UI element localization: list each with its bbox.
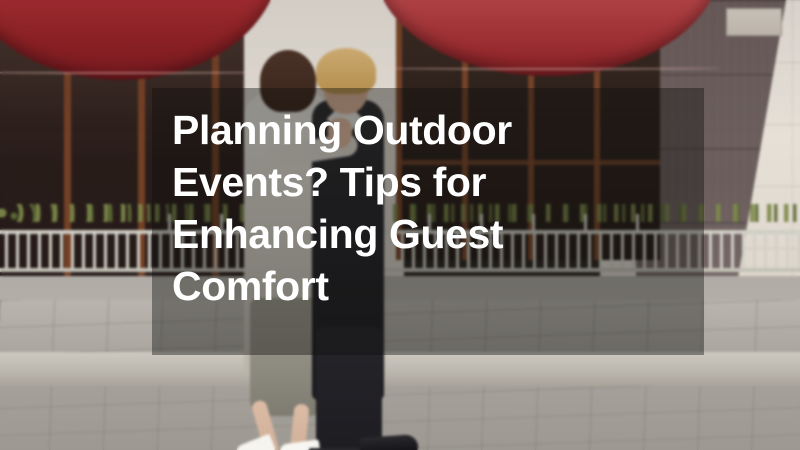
screenshot-root: Planning Outdoor Events? Tips for Enhanc…: [0, 0, 800, 450]
page-title: Planning Outdoor Events? Tips for Enhanc…: [172, 104, 592, 312]
man-shoe-right: [359, 434, 418, 450]
woman-shoe-left: [234, 434, 276, 450]
wall-plaque: [726, 8, 782, 36]
